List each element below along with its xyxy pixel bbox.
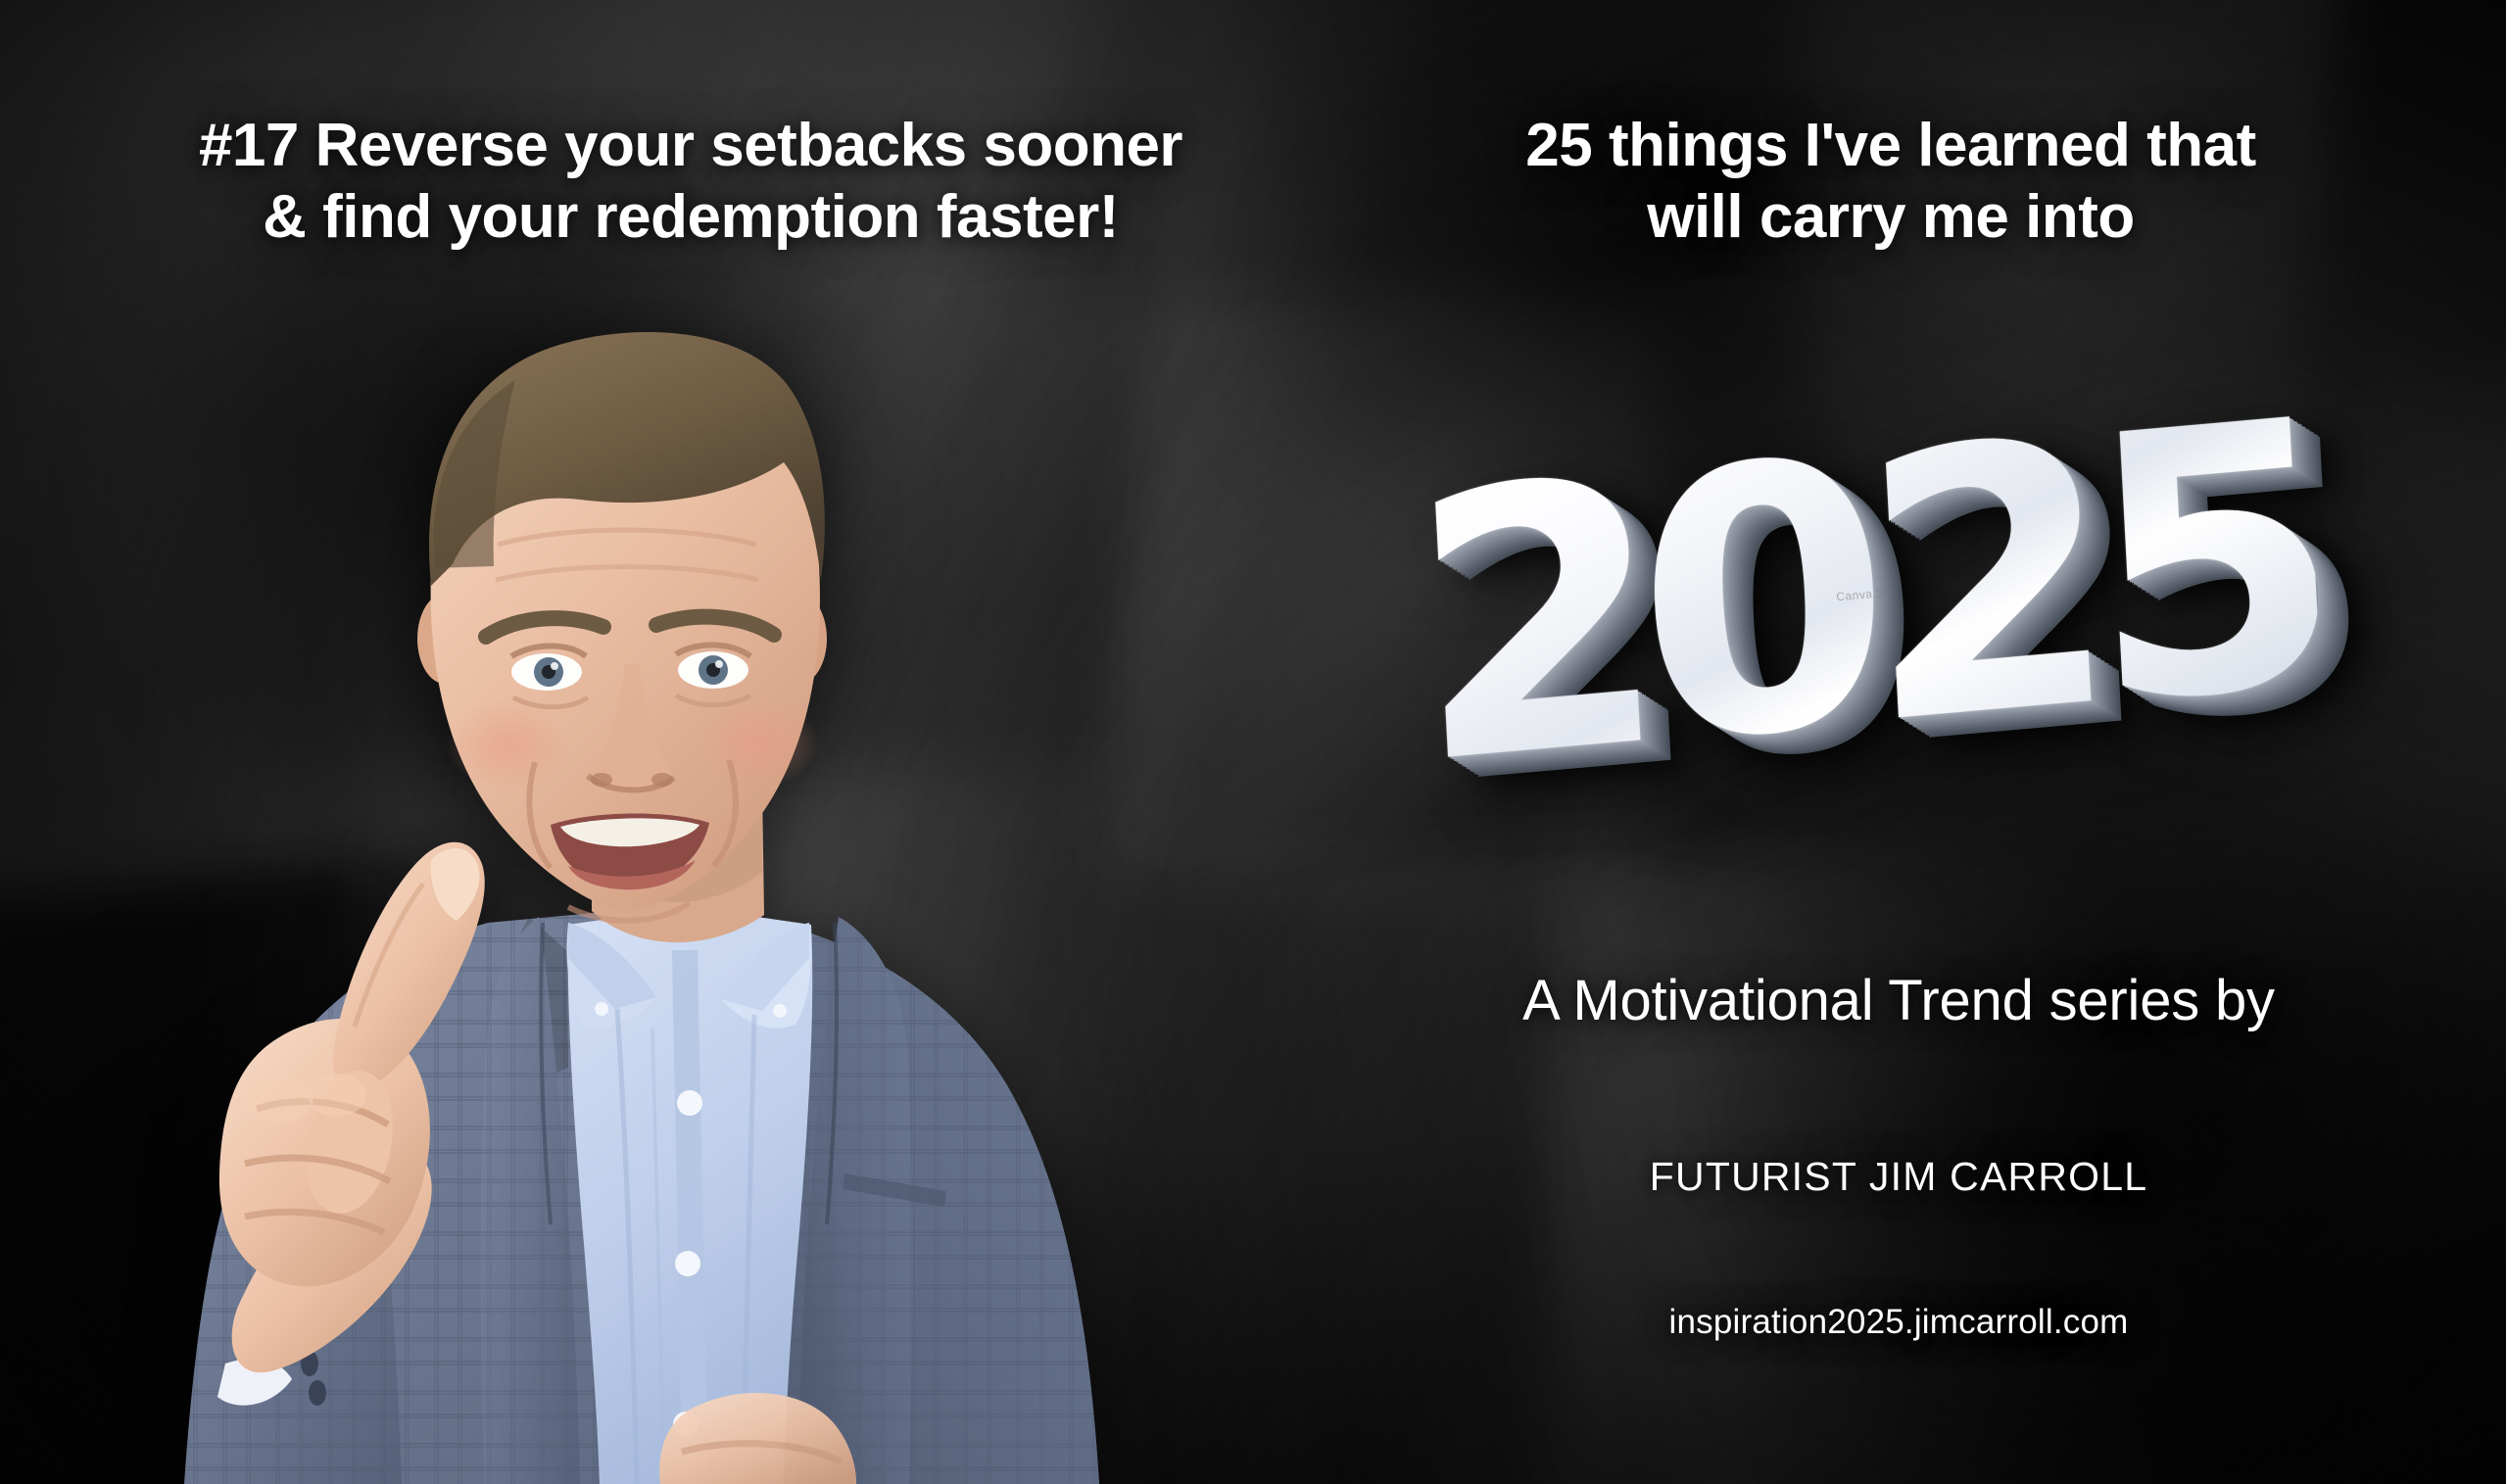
year-face: 2025 [1403,373,2323,816]
presenter-photo [108,323,1166,1484]
headline-left: #17 Reverse your setbacks sooner & find … [59,110,1323,253]
headline-right: 25 things I've learned that will carry m… [1362,110,2420,253]
year-2025-graphic: 2025 2025 Canva 3d [1344,364,2383,825]
presenter-name: FUTURIST JIM CARROLL [1350,1154,2447,1200]
site-url-link[interactable]: inspiration2025.jimcarroll.com [1350,1303,2447,1342]
series-byline: A Motivational Trend series by [1350,968,2447,1033]
head [417,332,827,921]
